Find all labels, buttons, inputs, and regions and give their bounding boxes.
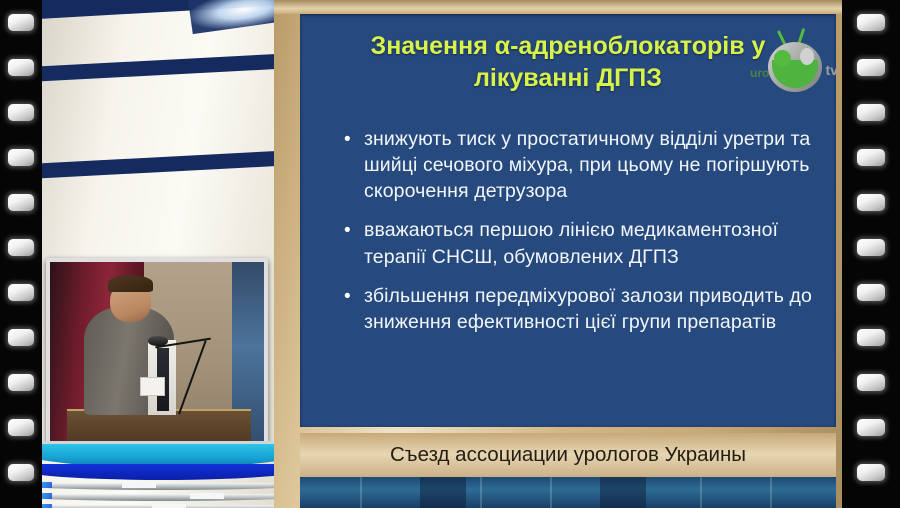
speaker-name-badge <box>140 377 166 396</box>
desk-highlight <box>190 493 224 499</box>
logo-text-uro: uro <box>750 66 769 80</box>
bullet-text: вважаються першою лінією медикаментозної… <box>364 217 818 269</box>
sprocket-hole <box>857 419 885 436</box>
uro-tv-logo: uro tv <box>750 26 832 98</box>
list-item: • вважаються першою лінією медикаментозн… <box>344 217 818 269</box>
film-strip-left <box>0 0 42 508</box>
desk-highlight <box>152 504 186 508</box>
strip-line <box>770 477 772 508</box>
sprocket-hole <box>8 329 34 346</box>
logo-mascot-eye-left <box>774 50 791 67</box>
desk-led-strip <box>42 493 52 499</box>
speaker-hair <box>108 275 153 292</box>
sprocket-hole <box>857 284 885 301</box>
slide-footer-text: Съезд ассоциации урологов Украины <box>390 443 746 467</box>
sprocket-hole <box>857 464 885 481</box>
list-item: • знижують тиск у простатичному відділі … <box>344 126 818 204</box>
bullet-dot-icon: • <box>344 126 364 204</box>
sprocket-hole <box>8 239 34 256</box>
sprocket-hole <box>8 194 34 211</box>
sprocket-hole <box>857 59 885 76</box>
speaker-video-inset <box>46 258 268 452</box>
bullet-text: збільшення передміхурової залози приводи… <box>364 283 818 335</box>
sprocket-hole <box>857 374 885 391</box>
sprocket-hole <box>8 419 34 436</box>
microphone-head <box>148 336 167 345</box>
news-desk <box>42 430 274 508</box>
slide-bottom-strip <box>300 477 836 508</box>
studio-backdrop <box>42 0 274 508</box>
desk-highlight <box>122 482 156 488</box>
slide-title-line-1: Значення α-адреноблокаторів у <box>334 30 802 62</box>
bullet-text: знижують тиск у простатичному відділі ур… <box>364 126 818 204</box>
sprocket-hole <box>857 329 885 346</box>
sprocket-hole <box>8 14 34 31</box>
slide-top-border <box>274 0 842 14</box>
logo-mascot-eye-right <box>800 48 814 65</box>
bullet-dot-icon: • <box>344 217 364 269</box>
sprocket-hole <box>857 104 885 121</box>
desk-led-strip <box>42 482 52 488</box>
sprocket-hole <box>857 14 885 31</box>
sprocket-hole <box>8 374 34 391</box>
sprocket-hole <box>857 194 885 211</box>
strip-line <box>360 477 362 508</box>
film-strip-right <box>842 0 900 508</box>
desk-silver-band <box>42 494 274 501</box>
strip-line <box>480 477 482 508</box>
desk-led-strip <box>42 504 52 508</box>
slide-title: Значення α-адреноблокаторів у лікуванні … <box>334 30 802 94</box>
list-item: • збільшення передміхурової залози приво… <box>344 283 818 335</box>
sprocket-hole <box>857 239 885 256</box>
sprocket-hole <box>8 284 34 301</box>
sprocket-hole <box>8 104 34 121</box>
slide-content-panel: Значення α-адреноблокаторів у лікуванні … <box>300 14 836 427</box>
strip-line <box>550 477 552 508</box>
sprocket-hole <box>8 464 34 481</box>
presentation-slide: Значення α-адреноблокаторів у лікуванні … <box>274 0 842 508</box>
desk-silver-band <box>42 483 274 490</box>
desk-blue-band <box>42 464 274 480</box>
video-frame: Значення α-адреноблокаторів у лікуванні … <box>0 0 900 508</box>
antenna-icon <box>798 28 805 43</box>
sprocket-hole <box>8 149 34 166</box>
sprocket-hole <box>8 59 34 76</box>
strip-tile <box>600 477 646 508</box>
strip-tile <box>420 477 466 508</box>
logo-text-tv: tv <box>826 62 838 78</box>
slide-bullet-list: • знижують тиск у простатичному відділі … <box>344 126 818 348</box>
sprocket-hole <box>857 149 885 166</box>
strip-line <box>700 477 702 508</box>
slide-footer-bar: Съезд ассоциации урологов Украины <box>300 433 836 477</box>
slide-title-line-2: лікуванні ДГПЗ <box>334 62 802 94</box>
bullet-dot-icon: • <box>344 283 364 335</box>
